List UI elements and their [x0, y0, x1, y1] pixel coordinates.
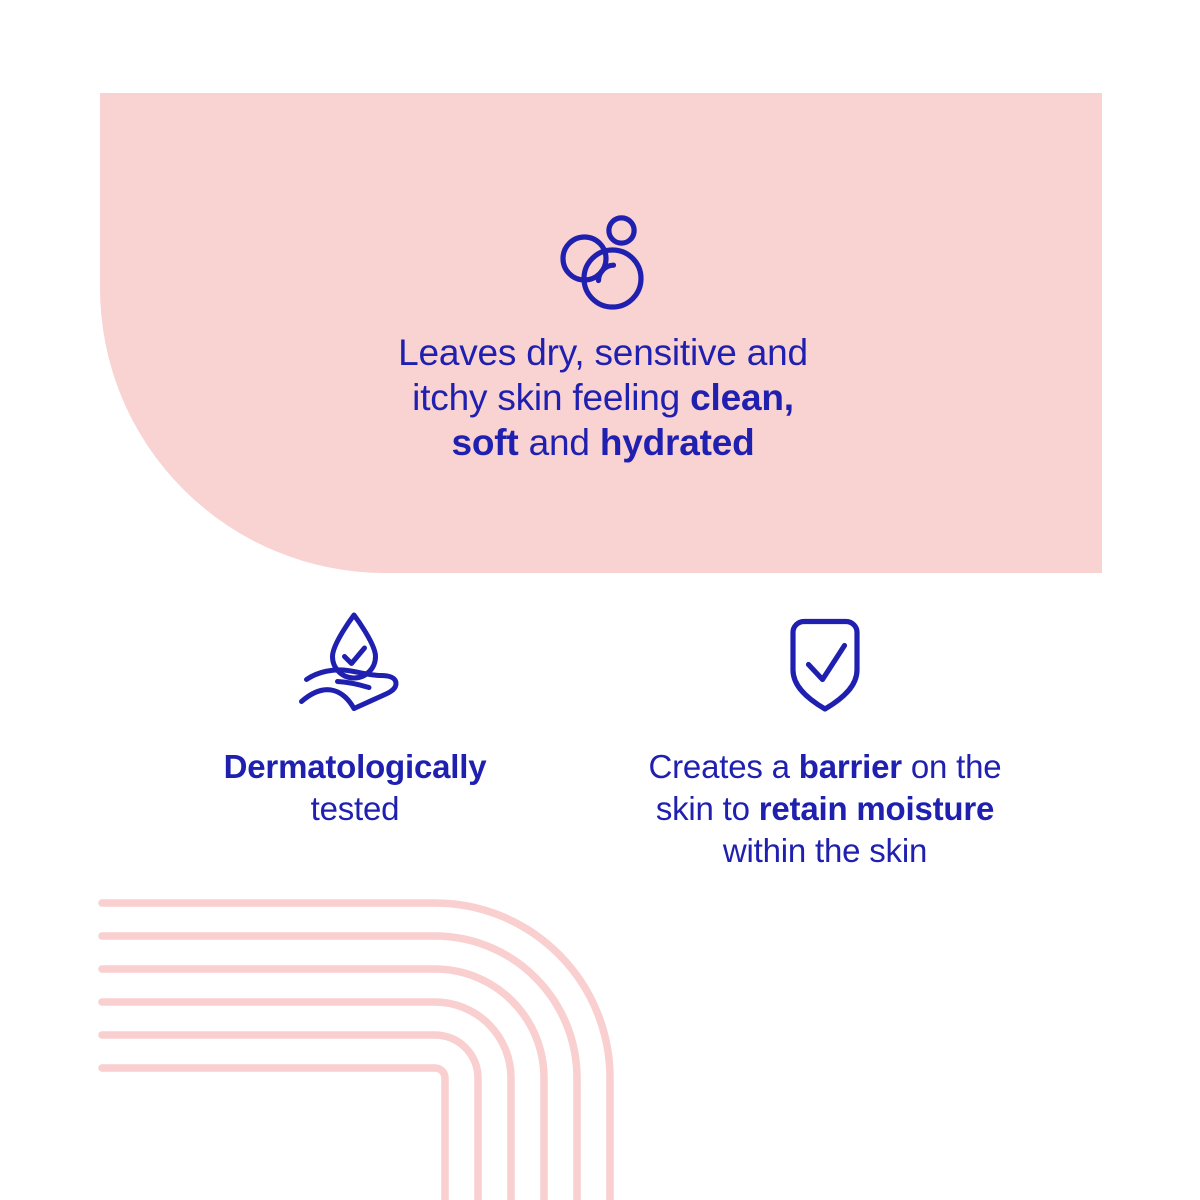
- feature-label-bold-0: Dermatologically: [224, 748, 487, 785]
- hero-headline-line-1: Leaves dry, sensitive and: [398, 332, 808, 373]
- nested-arc-lines-decoration: [90, 880, 710, 1200]
- shield-check-icon: [773, 608, 877, 720]
- feature-label-dermatologically-tested: Dermatologically tested: [224, 746, 487, 830]
- feature-label-line1-plain-a: Creates a: [649, 748, 799, 785]
- bubbles-icon: [551, 210, 655, 314]
- hero-headline-line-3-plain: and: [519, 422, 600, 463]
- feature-label-line1-bold: barrier: [799, 748, 902, 785]
- feature-label-line1-plain-b: on the: [902, 748, 1002, 785]
- feature-item-barrier-retain-moisture: Creates a barrier on the skin to retain …: [590, 608, 1060, 872]
- hero-headline-line-3-bold-b: hydrated: [600, 422, 755, 463]
- hero-headline-line-2-plain: itchy skin feeling: [412, 377, 690, 418]
- promo-graphic-canvas: Leaves dry, sensitive and itchy skin fee…: [0, 0, 1200, 1200]
- hero-headline-line-2-bold: clean,: [690, 377, 794, 418]
- hero-headline: Leaves dry, sensitive and itchy skin fee…: [260, 330, 946, 465]
- hero-headline-line-3-bold-a: soft: [452, 422, 519, 463]
- feature-list: Dermatologically tested Creates a barrie…: [100, 608, 1102, 872]
- feature-label-plain-0: tested: [311, 790, 400, 827]
- feature-label-line2-bold: retain moisture: [759, 790, 994, 827]
- feature-label-line2-plain-a: skin to: [656, 790, 759, 827]
- feature-label-line3-plain: within the skin: [723, 832, 927, 869]
- feature-item-dermatologically-tested: Dermatologically tested: [140, 608, 570, 830]
- feature-label-barrier-retain-moisture: Creates a barrier on the skin to retain …: [649, 746, 1002, 872]
- droplet-on-hand-icon: [291, 608, 419, 720]
